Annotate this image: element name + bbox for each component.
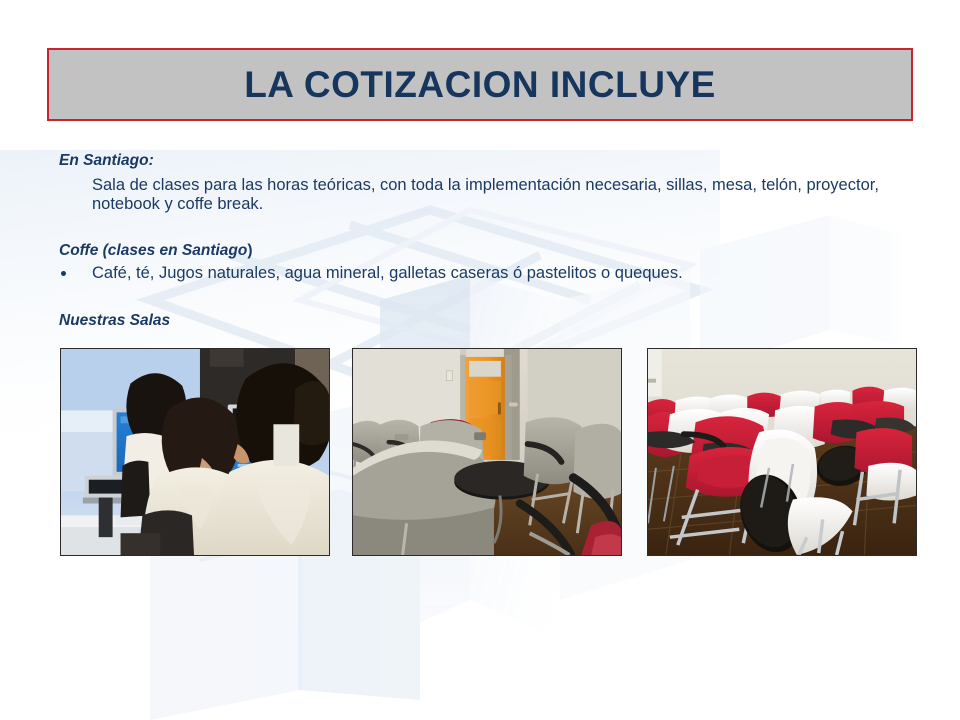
bullet-coffe-items: Café, té, Jugos naturales, agua mineral,…: [92, 264, 683, 283]
classroom-chairs-photo: [647, 348, 917, 556]
computer-lab-photo: [60, 348, 330, 556]
heading-coffe: Coffe (clases en Santiago): [59, 242, 253, 260]
bullet-point-icon: [61, 271, 66, 276]
heading-coffe-paren: ): [247, 242, 252, 259]
slide-title-box: LA COTIZACION INCLUYE: [47, 48, 913, 121]
heading-en-santiago: En Santiago:: [59, 152, 154, 170]
slide-canvas: LA COTIZACION INCLUYE En Santiago: Sala …: [0, 0, 960, 720]
meeting-room-photo: [352, 348, 622, 556]
heading-nuestras-salas: Nuestras Salas: [59, 312, 170, 330]
page-title: LA COTIZACION INCLUYE: [244, 66, 716, 103]
heading-coffe-main: Coffe (clases en Santiago: [59, 242, 247, 259]
paragraph-sala-de-clases: Sala de clases para las horas teóricas, …: [92, 176, 912, 214]
